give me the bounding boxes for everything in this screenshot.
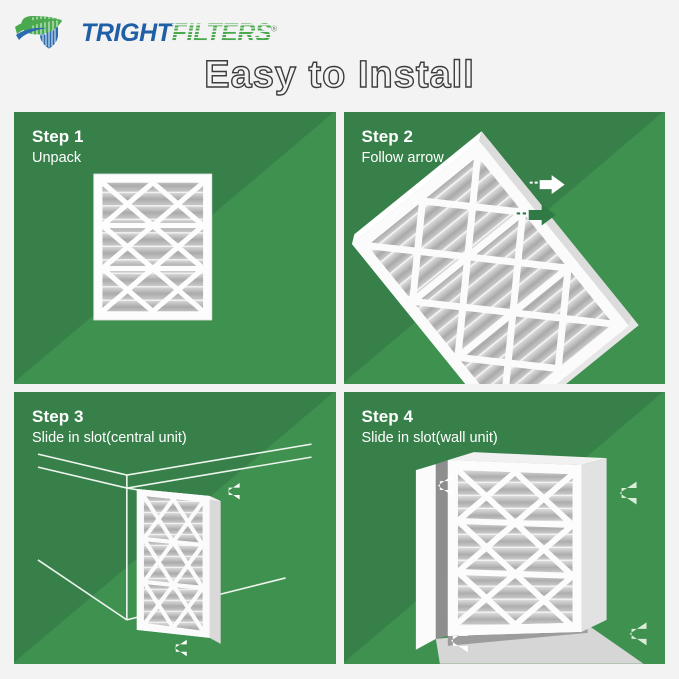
step-panel-4: Step 4 Slide in slot(wall unit) xyxy=(344,392,666,664)
pleated-filter-front-view-illustration xyxy=(14,112,336,384)
pleated-filter-perspective xyxy=(137,489,221,644)
filter-into-wall-unit-illustration xyxy=(344,392,666,664)
brand-logo: TRIGHTFILTERS® xyxy=(14,13,277,53)
trademark-symbol: ® xyxy=(271,24,277,33)
insert-arrow-lower-right-icon xyxy=(629,622,646,645)
insert-arrow-bottom-icon xyxy=(175,640,187,657)
steps-grid: Step 1 Unpack xyxy=(14,112,665,664)
pleated-filter-wall xyxy=(447,452,606,636)
step-panel-3: Step 3 Slide in slot(central unit) xyxy=(14,392,336,664)
filter-into-central-unit-illustration xyxy=(14,392,336,664)
brand-word-filters: FILTERS xyxy=(172,19,272,47)
brand-wordmark: TRIGHTFILTERS® xyxy=(81,21,277,46)
install-instructions-page: TRIGHTFILTERS® Easy to Install xyxy=(0,0,679,679)
step-panel-2: Step 2 Follow arrow xyxy=(344,112,666,384)
insert-arrow-upper-right-icon xyxy=(619,482,636,505)
page-title: Easy to Install xyxy=(0,52,679,98)
shield-leaf-logo-icon xyxy=(14,13,72,53)
pleated-filter-tilted-illustration xyxy=(344,112,666,384)
airflow-arrow-white-icon xyxy=(529,175,564,194)
page-header: TRIGHTFILTERS® Easy to Install xyxy=(0,0,679,108)
insert-arrow-top-icon xyxy=(228,483,240,500)
step-panel-1: Step 1 Unpack xyxy=(14,112,336,384)
brand-word-tright: TRIGHT xyxy=(81,19,172,47)
